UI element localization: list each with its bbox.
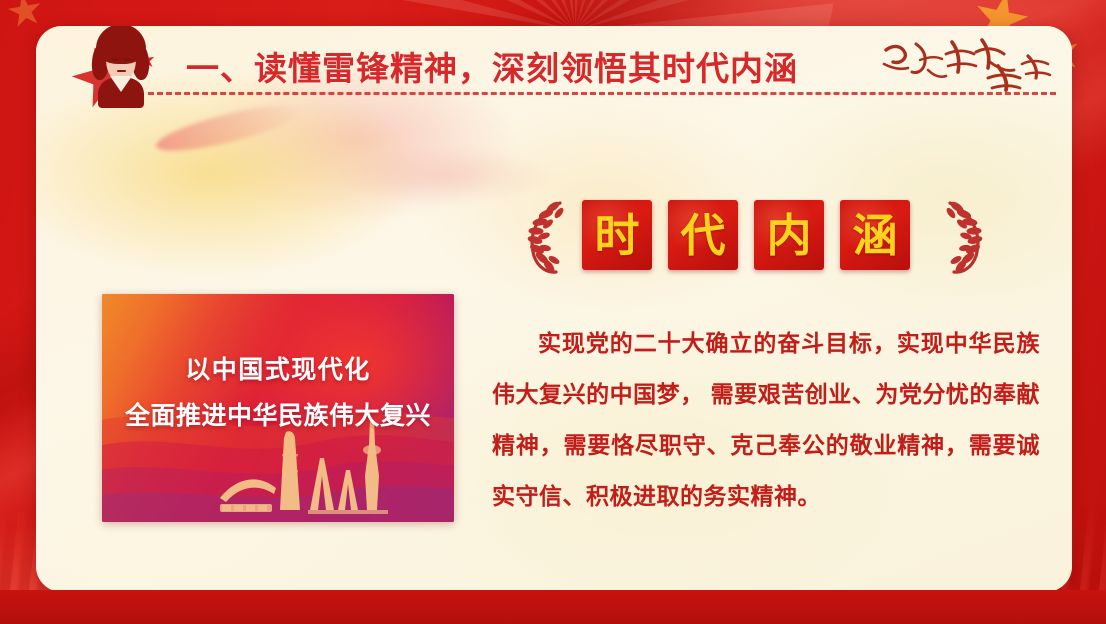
heading-char-box-3: 内 bbox=[754, 200, 824, 270]
heading-char-box-4: 涵 bbox=[840, 200, 910, 270]
heading-char-4: 涵 bbox=[852, 213, 897, 258]
heading-character-row: 时 代 内 涵 bbox=[582, 200, 910, 270]
slide-root: 一、读懂雷锋精神，深刻领悟其时代内涵 bbox=[0, 0, 1106, 624]
section-heading: 时 代 内 涵 bbox=[520, 194, 990, 280]
page-title: 一、读懂雷锋精神，深刻领悟其时代内涵 bbox=[186, 42, 798, 90]
poster-image-card: 以中国式现代化 全面推进中华民族伟大复兴 bbox=[102, 294, 454, 522]
portrait-figure-icon bbox=[94, 26, 148, 106]
header-dashed-divider bbox=[148, 92, 1056, 95]
calligraphy-learn-from-lei-feng bbox=[878, 30, 1058, 96]
poster-title: 以中国式现代化 全面推进中华民族伟大复兴 bbox=[102, 350, 454, 432]
heading-char-1: 时 bbox=[594, 213, 639, 258]
heading-char-box-1: 时 bbox=[582, 200, 652, 270]
bottom-red-strip bbox=[0, 590, 1106, 624]
laurel-wreath-left-icon bbox=[520, 198, 568, 276]
heading-char-box-2: 代 bbox=[668, 200, 738, 270]
body-paragraph: 实现党的二十大确立的奋斗目标，实现中华民族伟大复兴的中国梦， 需要艰苦创业、为党… bbox=[492, 318, 1040, 522]
laurel-wreath-right-icon bbox=[942, 198, 990, 276]
heading-char-3: 内 bbox=[766, 213, 811, 258]
poster-title-line1: 以中国式现代化 bbox=[102, 350, 454, 386]
heading-char-2: 代 bbox=[680, 213, 725, 258]
poster-title-line2: 全面推进中华民族伟大复兴 bbox=[102, 396, 454, 432]
lei-feng-portrait-badge bbox=[72, 26, 176, 114]
slide-header: 一、读懂雷锋精神，深刻领悟其时代内涵 bbox=[36, 26, 1072, 100]
content-panel: 一、读懂雷锋精神，深刻领悟其时代内涵 bbox=[36, 26, 1072, 592]
